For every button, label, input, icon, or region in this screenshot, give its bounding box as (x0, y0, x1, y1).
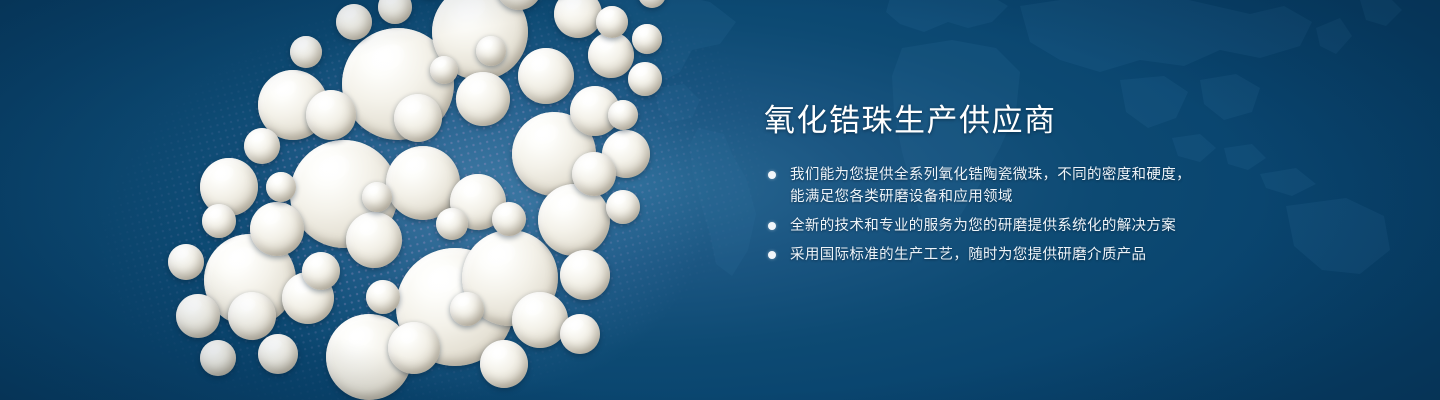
banner-bullet-list: 我们能为您提供全系列氧化锆陶瓷微珠，不同的密度和硬度， 能满足您各类研磨设备和应… (762, 164, 1302, 266)
bullet-line-2: 能满足您各类研磨设备和应用领域 (790, 186, 1302, 208)
bullet-item-2: 全新的技术和专业的服务为您的研磨提供系统化的解决方案 (762, 215, 1302, 237)
bullet-dot-icon (768, 171, 776, 179)
bullet-line-1: 我们能为您提供全系列氧化锆陶瓷微珠，不同的密度和硬度， (790, 167, 1191, 183)
banner-text-block: 氧化锆珠生产供应商 我们能为您提供全系列氧化锆陶瓷微珠，不同的密度和硬度， 能满… (762, 104, 1302, 266)
bullet-dot-icon (768, 222, 776, 230)
bullet-item-3: 采用国际标准的生产工艺，随时为您提供研磨介质产品 (762, 244, 1302, 266)
bullet-line-1: 全新的技术和专业的服务为您的研磨提供系统化的解决方案 (790, 218, 1176, 234)
bullet-line-1: 采用国际标准的生产工艺，随时为您提供研磨介质产品 (790, 247, 1146, 263)
bullet-dot-icon (768, 251, 776, 259)
bullet-item-1: 我们能为您提供全系列氧化锆陶瓷微珠，不同的密度和硬度， 能满足您各类研磨设备和应… (762, 164, 1302, 208)
hero-banner: 氧化锆珠生产供应商 我们能为您提供全系列氧化锆陶瓷微珠，不同的密度和硬度， 能满… (0, 0, 1440, 400)
banner-headline: 氧化锆珠生产供应商 (764, 104, 1302, 138)
